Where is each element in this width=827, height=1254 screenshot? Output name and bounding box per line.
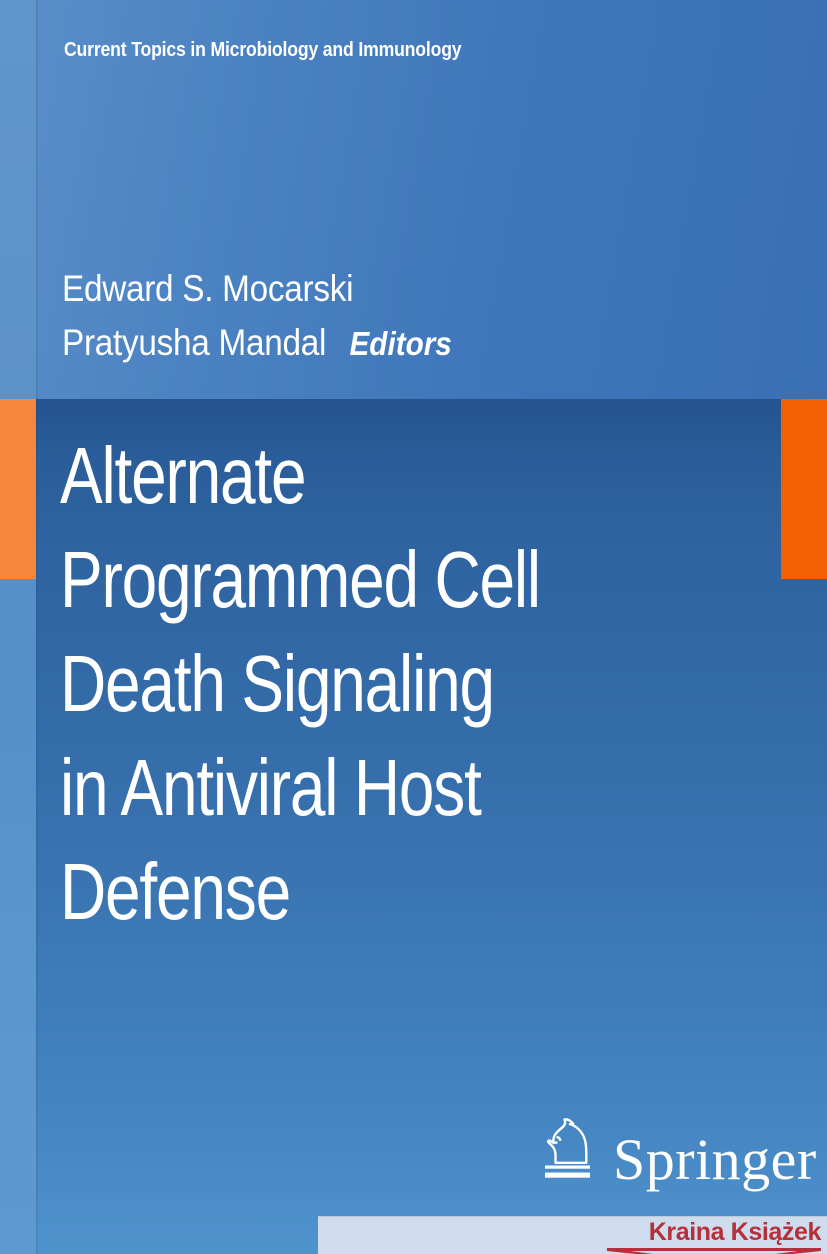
title-line-4: in Antiviral Host xyxy=(60,736,620,840)
watermark-book-swoosh-icon xyxy=(607,1248,821,1254)
book-cover: Current Topics in Microbiology and Immun… xyxy=(0,0,827,1254)
title-line-3: Death Signaling xyxy=(60,632,620,736)
orange-accent-block-left xyxy=(0,399,36,579)
publisher-name: Springer xyxy=(613,1131,817,1189)
editor-name-1: Edward S. Mocarski xyxy=(62,268,353,309)
springer-knight-icon xyxy=(537,1115,599,1185)
orange-accent-block-right xyxy=(781,399,827,579)
editors-role-label: Editors xyxy=(349,325,451,362)
spine-seam-divider xyxy=(36,0,38,1254)
spine-strip-upper xyxy=(0,0,36,399)
editor-name-2: Pratyusha Mandal xyxy=(62,322,326,363)
editors-block: Edward S. Mocarski Pratyusha MandalEdito… xyxy=(62,262,762,371)
book-title: Alternate Programmed Cell Death Signalin… xyxy=(60,424,760,944)
editor-name-1-line: Edward S. Mocarski xyxy=(62,262,692,316)
title-line-1: Alternate xyxy=(60,424,620,528)
watermark-content: Kraina Książek xyxy=(600,1217,825,1254)
title-line-5: Defense xyxy=(60,840,620,944)
watermark-label: Kraina Książek xyxy=(649,1218,821,1247)
series-title: Current Topics in Microbiology and Immun… xyxy=(64,38,666,62)
publisher-logo: Springer xyxy=(537,1115,817,1185)
watermark-banner: Kraina Książek xyxy=(318,1216,827,1254)
editor-name-2-line: Pratyusha MandalEditors xyxy=(62,316,692,371)
title-line-2: Programmed Cell xyxy=(60,528,620,632)
